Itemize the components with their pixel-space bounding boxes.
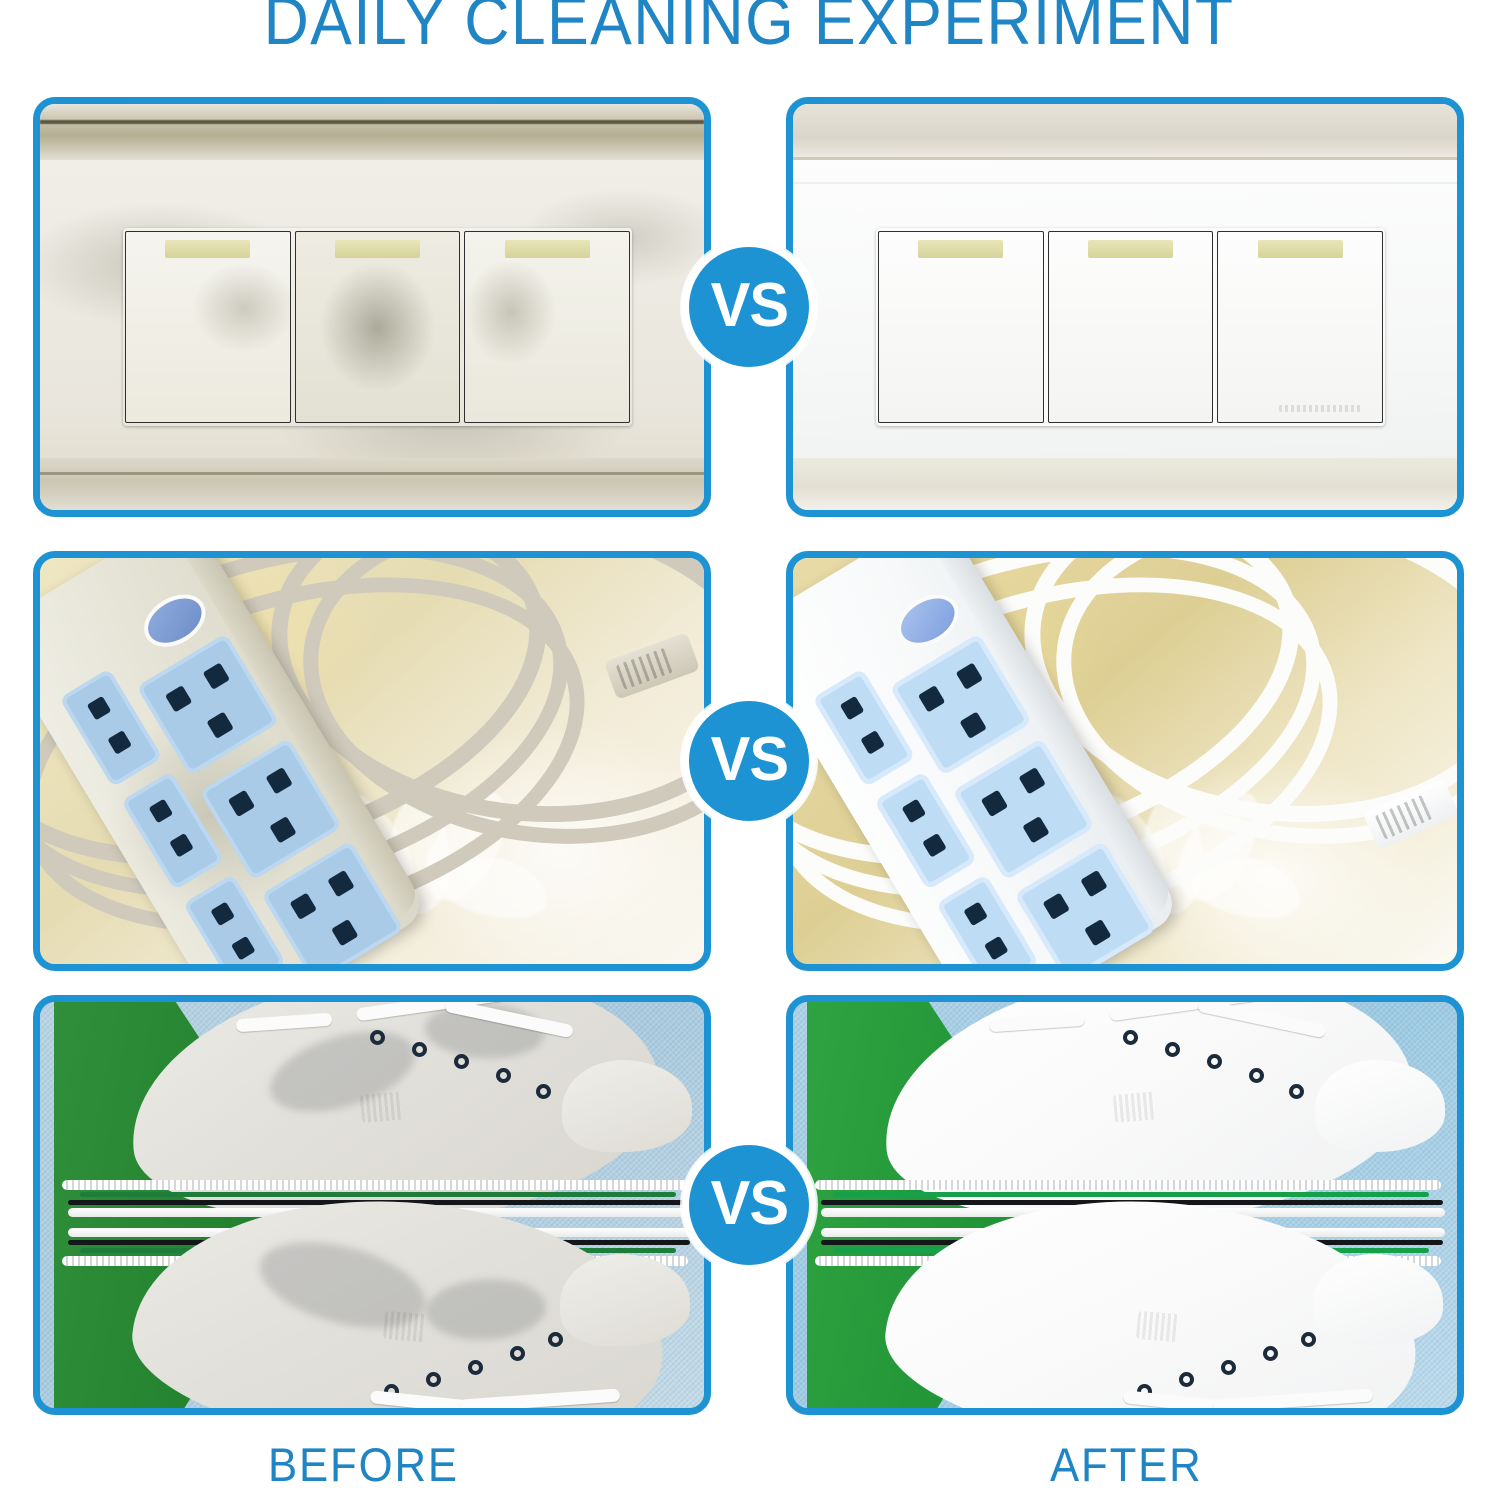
shoe-eyelet	[548, 1332, 563, 1347]
shoe-eyelet	[1249, 1068, 1264, 1083]
vs-badge-row-3: VS	[682, 1138, 816, 1272]
vs-badge-label: VS	[710, 270, 787, 341]
switch-indicator-tab	[505, 240, 590, 258]
shoe-eyelet	[496, 1068, 511, 1083]
caption-before: BEFORE	[268, 1437, 459, 1492]
shoe-eyelet	[536, 1084, 551, 1099]
shoe-label	[1136, 1311, 1180, 1343]
switch-rocker-1	[125, 231, 291, 423]
shoe-eyelet	[1123, 1030, 1138, 1045]
image-dirty-power-strip	[40, 558, 704, 964]
switch-plate-clean	[876, 228, 1385, 426]
cleaning-comparison-infographic: DAILY CLEANING EXPERIMENT	[0, 0, 1498, 1498]
wall-bottom-grime	[40, 458, 704, 510]
wall-bottom-clean	[793, 458, 1457, 510]
wall-surface-dirty	[40, 104, 704, 510]
panel-before-sneakers	[33, 995, 711, 1415]
switch-indicator-tab	[1258, 240, 1343, 258]
wall-surface-clean	[793, 104, 1457, 510]
switch-brand-mark	[1279, 405, 1361, 412]
switch-rocker-1	[878, 231, 1044, 423]
image-clean-light-switch	[793, 104, 1457, 510]
shoe-eyelet	[426, 1372, 441, 1387]
shoe-eyelet	[412, 1042, 427, 1057]
sneaker-toe-cap	[560, 1254, 690, 1346]
panel-after-light-switch	[786, 97, 1464, 517]
panel-before-light-switch	[33, 97, 711, 517]
switch-plate-dirty	[123, 228, 632, 426]
wall-grime-band	[40, 104, 704, 160]
sneaker-toe-cap	[1315, 1060, 1445, 1152]
shoe-eyelet	[1165, 1042, 1180, 1057]
switch-rocker-3	[464, 231, 630, 423]
switch-indicator-tab	[918, 240, 1003, 258]
sneaker-green-stripe	[80, 1192, 676, 1197]
panel-after-power-strip	[786, 551, 1464, 971]
shoe-eyelet	[1179, 1372, 1194, 1387]
shoe-eyelet	[370, 1030, 385, 1045]
image-dirty-sneakers	[40, 1002, 704, 1408]
vs-badge-label: VS	[710, 1168, 787, 1239]
panel-before-power-strip	[33, 551, 711, 971]
switch-indicator-tab	[165, 240, 250, 258]
shoe-eyelet	[1289, 1084, 1304, 1099]
shoe-eyelet	[468, 1360, 483, 1375]
shoe-eyelet	[1301, 1332, 1316, 1347]
image-clean-power-strip	[793, 558, 1457, 964]
shoe-label	[360, 1091, 404, 1123]
switch-rocker-2	[295, 231, 461, 423]
sneaker-toe-cap	[1313, 1254, 1443, 1346]
shoe-eyelet	[1263, 1346, 1278, 1361]
shoe-label	[383, 1311, 427, 1343]
shoe-eyelet	[1221, 1360, 1236, 1375]
shoe-eyelet	[510, 1346, 525, 1361]
sneaker-toe-cap	[562, 1060, 692, 1152]
shoe-eyelet	[454, 1054, 469, 1069]
vs-badge-label: VS	[710, 724, 787, 795]
vs-badge-row-2: VS	[682, 694, 816, 828]
sneaker-green-stripe	[833, 1192, 1429, 1197]
switch-indicator-tab	[1088, 240, 1173, 258]
sneaker-welt-stitch	[815, 1180, 1441, 1190]
switch-rocker-2	[1048, 231, 1214, 423]
switch-rocker-3	[1217, 231, 1383, 423]
sneaker-welt-stitch	[62, 1180, 688, 1190]
shoe-eyelet	[1207, 1054, 1222, 1069]
shoe-label	[1113, 1091, 1157, 1123]
panel-after-sneakers	[786, 995, 1464, 1415]
wall-top-clean	[793, 104, 1457, 160]
image-dirty-light-switch	[40, 104, 704, 510]
dirt-smudge	[424, 1276, 547, 1342]
caption-after: AFTER	[1050, 1437, 1203, 1492]
vs-badge-row-1: VS	[682, 240, 816, 374]
image-clean-sneakers	[793, 1002, 1457, 1408]
switch-indicator-tab	[335, 240, 420, 258]
